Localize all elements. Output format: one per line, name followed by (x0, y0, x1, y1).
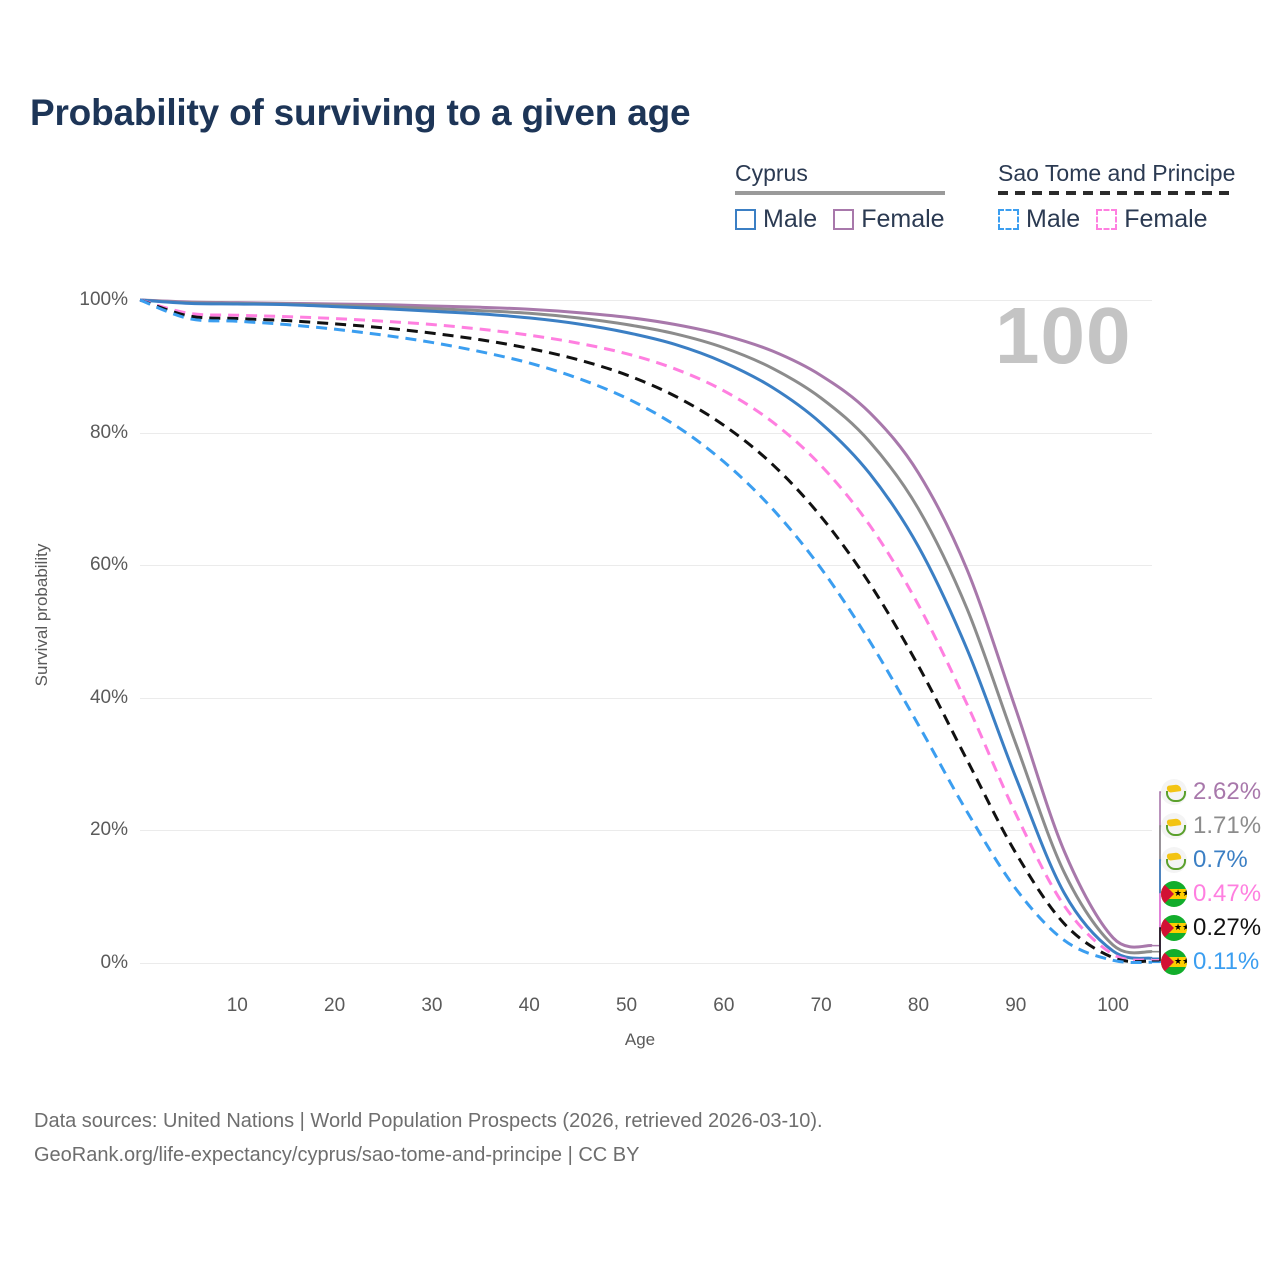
olive-branch-shape (1166, 825, 1186, 836)
end-label-value: 0.11% (1193, 948, 1259, 976)
legend-swatch-square (833, 209, 854, 230)
red-triangle (1161, 915, 1174, 941)
series-line-cyprus-male (140, 300, 1152, 958)
end-label-sao-tome-and-principe-both[interactable]: ★★0.27% (1161, 914, 1261, 942)
legend-swatch-square-dashed (1096, 209, 1117, 230)
legend-group-title: Sao Tome and Principe (998, 160, 1235, 191)
cyprus-flag-icon (1161, 847, 1187, 873)
olive-branch-shape (1166, 791, 1186, 802)
series-line-sao-tome-and-principe-both (140, 300, 1152, 962)
end-label-cyprus-female[interactable]: 2.62% (1161, 778, 1261, 806)
legend-items: MaleFemale (735, 205, 945, 234)
legend-swatch-square-dashed (998, 209, 1019, 230)
legend-items: MaleFemale (998, 205, 1235, 234)
legend-item-label: Male (1026, 205, 1080, 234)
end-label-sao-tome-and-principe-male[interactable]: ★★0.11% (1161, 948, 1259, 976)
end-label-value: 0.47% (1193, 880, 1261, 908)
red-triangle (1161, 881, 1174, 907)
footer-data-sources: Data sources: United Nations | World Pop… (34, 1104, 823, 1138)
series-line-sao-tome-and-principe-female (140, 300, 1152, 960)
chart-page: Probability of surviving to a given age … (0, 0, 1280, 1280)
end-label-value: 2.62% (1193, 778, 1261, 806)
end-label-cyprus-male[interactable]: 0.7% (1161, 846, 1248, 874)
end-labels-group: 2.62%1.71%0.7%★★0.47%★★0.27%★★0.11% (1143, 255, 1280, 1015)
legend-swatch-square (735, 209, 756, 230)
stars-icon: ★★ (1174, 956, 1187, 967)
legend-group-sao-tome-and-principe: Sao Tome and PrincipeMaleFemale (998, 160, 1235, 234)
footer: Data sources: United Nations | World Pop… (34, 1104, 823, 1172)
stars-icon: ★★ (1174, 922, 1187, 933)
stars-icon: ★★ (1174, 888, 1187, 899)
end-label-cyprus-both[interactable]: 1.71% (1161, 812, 1261, 840)
sao-tome-and-principe-flag-icon: ★★ (1161, 881, 1187, 907)
legend-item-sao-tome-and-principe-male[interactable]: Male (998, 205, 1080, 234)
end-label-sao-tome-and-principe-female[interactable]: ★★0.47% (1161, 880, 1261, 908)
legend-group-rule-solid (735, 191, 945, 195)
series-lines (0, 255, 1280, 1015)
series-line-sao-tome-and-principe-male (140, 300, 1152, 963)
x-axis-title: Age (0, 1030, 1280, 1050)
legend-group-title: Cyprus (735, 160, 945, 191)
footer-attribution: GeoRank.org/life-expectancy/cyprus/sao-t… (34, 1138, 823, 1172)
plot-area: 100 Survival probability 0%20%40%60%80%1… (0, 255, 1280, 1015)
red-triangle (1161, 949, 1174, 975)
cyprus-flag-icon (1161, 813, 1187, 839)
end-label-value: 0.27% (1193, 914, 1261, 942)
series-line-cyprus-female (140, 300, 1152, 947)
legend-item-sao-tome-and-principe-female[interactable]: Female (1096, 205, 1207, 234)
sao-tome-and-principe-flag-icon: ★★ (1161, 949, 1187, 975)
olive-branch-shape (1166, 859, 1186, 870)
series-line-cyprus-both (140, 300, 1152, 953)
end-label-value: 1.71% (1193, 812, 1261, 840)
page-title: Probability of surviving to a given age (30, 92, 690, 134)
legend-group-rule-dashed (998, 191, 1235, 195)
legend-item-label: Female (1124, 205, 1207, 234)
cyprus-flag-icon (1161, 779, 1187, 805)
legend-item-label: Male (763, 205, 817, 234)
legend-item-cyprus-female[interactable]: Female (833, 205, 944, 234)
legend-item-cyprus-male[interactable]: Male (735, 205, 817, 234)
sao-tome-and-principe-flag-icon: ★★ (1161, 915, 1187, 941)
legend-item-label: Female (861, 205, 944, 234)
end-label-value: 0.7% (1193, 846, 1248, 874)
chart-legend: CyprusMaleFemaleSao Tome and PrincipeMal… (735, 160, 1260, 245)
legend-group-cyprus: CyprusMaleFemale (735, 160, 945, 234)
